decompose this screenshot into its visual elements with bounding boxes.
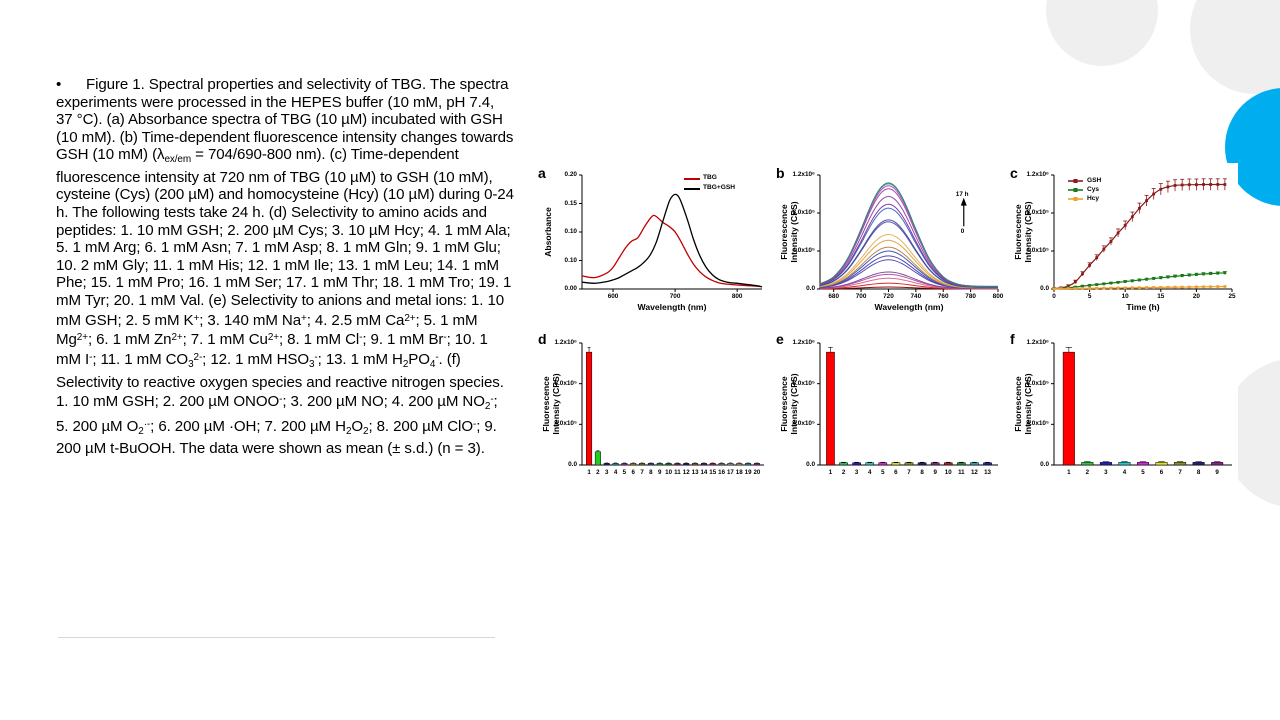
- x-tick-label: 5: [1076, 293, 1104, 300]
- x-axis-title: Time (h): [1054, 302, 1232, 312]
- legend-item-gsh: GSH: [1087, 177, 1101, 184]
- legend-item-cys: Cys: [1087, 186, 1099, 193]
- chart-panel-d: d0.04.0x10⁵8.0x10⁵1.2x10⁶FluorescenceInt…: [534, 329, 770, 495]
- y-axis-title-line2: Intensity (CPS): [551, 343, 561, 465]
- chart-panel-b: b0.04.0x10⁵8.0x10⁵1.2x10⁶680700720740760…: [772, 163, 1004, 323]
- legend-item-hcy: Hcy: [1087, 195, 1099, 202]
- y-axis-title-line2: Intensity (CPS): [789, 343, 799, 465]
- chart-panel-e: e0.04.0x10⁵8.0x10⁵1.2x10⁶FluorescenceInt…: [772, 329, 1004, 495]
- x-tick-label: 740: [902, 293, 930, 300]
- x-tick-label: 720: [874, 293, 902, 300]
- bar-category-label: 2: [1079, 469, 1095, 476]
- y-axis-title: Fluorescence: [541, 343, 551, 465]
- caption-bullet: •: [56, 76, 86, 94]
- bar-category-label: 9: [1209, 469, 1225, 476]
- decorative-circle-gray-top-right: [1190, 0, 1280, 94]
- y-axis-title: Fluorescence: [1013, 175, 1023, 289]
- legend-item-tbg: TBG: [703, 174, 717, 181]
- y-tick-label: 0.10: [534, 257, 577, 264]
- y-tick-label: 0.15: [534, 200, 577, 207]
- y-axis-title: Fluorescence: [779, 175, 789, 289]
- y-axis-title: Fluorescence: [779, 343, 789, 465]
- x-tick-label: 700: [847, 293, 875, 300]
- x-tick-label: 760: [929, 293, 957, 300]
- y-tick-label: 0.00: [534, 285, 577, 292]
- bar-category-label: 1: [1061, 469, 1077, 476]
- footer-divider: [58, 637, 495, 638]
- x-tick-label: 780: [957, 293, 985, 300]
- y-axis-title-line2: Intensity (CPS): [1023, 175, 1033, 289]
- figure-caption: •Figure 1. Spectral properties and selec…: [56, 76, 514, 458]
- x-axis-title: Wavelength (nm): [820, 302, 998, 312]
- figure-image: a0.000.100.100.150.20600700800Wavelength…: [534, 163, 1238, 495]
- decorative-circle-gray-top-left: [1046, 0, 1158, 66]
- annotation-0h: 0: [961, 228, 965, 235]
- x-tick-label: 680: [820, 293, 848, 300]
- y-tick-label: 0.10: [534, 228, 577, 235]
- bar-category-label: 6: [1154, 469, 1170, 476]
- x-tick-label: 20: [1182, 293, 1210, 300]
- chart-panel-c: c0.04.0x10⁵8.0x10⁵1.2x10⁶0510152025Time …: [1006, 163, 1238, 323]
- bar-category-label: 5: [1135, 469, 1151, 476]
- y-axis-title: Fluorescence: [1013, 343, 1023, 465]
- slide-canvas: •Figure 1. Spectral properties and selec…: [0, 0, 1280, 720]
- bar-category-label: 7: [1172, 469, 1188, 476]
- bar-category-label: 3: [1098, 469, 1114, 476]
- chart-panel-f: f0.04.0x10⁵8.0x10⁵1.2x10⁶FluorescenceInt…: [1006, 329, 1238, 495]
- y-axis-title-line2: Intensity (CPS): [1023, 343, 1033, 465]
- y-tick-label: 0.20: [534, 171, 577, 178]
- x-axis-title: Wavelength (nm): [582, 302, 762, 312]
- x-tick-label: 10: [1111, 293, 1139, 300]
- bar-category-label: 8: [1191, 469, 1207, 476]
- annotation-17h: 17 h: [956, 191, 969, 198]
- x-tick-label: 800: [723, 293, 751, 300]
- bar-category-label: 20: [749, 469, 765, 476]
- x-tick-label: 0: [1040, 293, 1068, 300]
- legend-item-tbg+gsh: TBG+GSH: [703, 184, 735, 191]
- x-tick-label: 25: [1218, 293, 1246, 300]
- x-tick-label: 700: [661, 293, 689, 300]
- caption-body: Figure 1. Spectral properties and select…: [56, 76, 514, 457]
- x-tick-label: 600: [599, 293, 627, 300]
- y-axis-title: Absorbance: [543, 175, 553, 289]
- y-axis-title-line2: Intensity (CPS): [789, 175, 799, 289]
- chart-panel-a: a0.000.100.100.150.20600700800Wavelength…: [534, 163, 770, 323]
- x-tick-label: 15: [1147, 293, 1175, 300]
- bar-category-label: 4: [1116, 469, 1132, 476]
- bar-category-label: 13: [980, 469, 996, 476]
